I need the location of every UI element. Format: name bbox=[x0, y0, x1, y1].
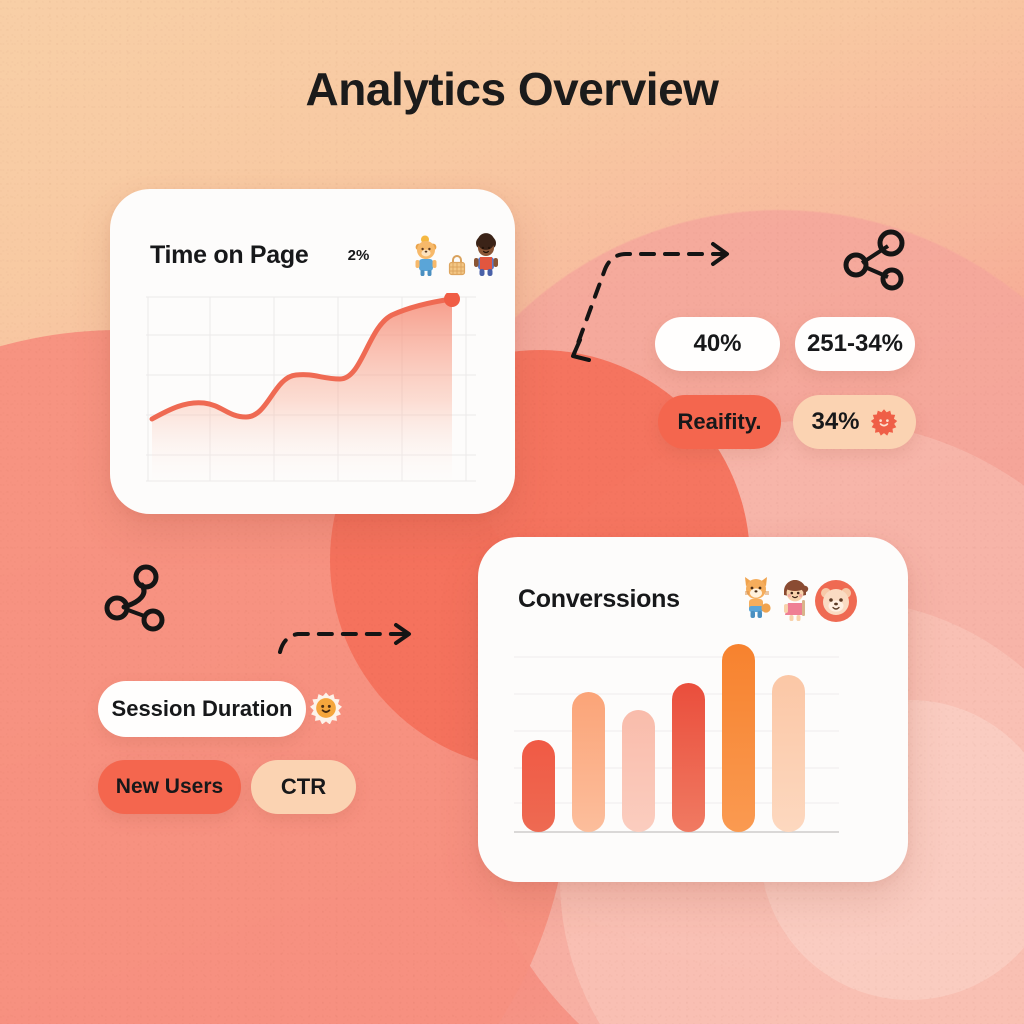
share-icon[interactable] bbox=[96, 560, 176, 640]
hamster-avatar bbox=[814, 579, 858, 623]
card-time-on-page-title: Time on Page bbox=[150, 241, 309, 270]
pill-session-duration[interactable]: Session Duration bbox=[98, 681, 306, 737]
sun-smile-icon bbox=[870, 408, 898, 436]
person-avatar bbox=[469, 232, 503, 278]
line-area-chart bbox=[146, 293, 476, 485]
avatar-group-top bbox=[411, 232, 503, 278]
bear-avatar bbox=[411, 234, 445, 278]
card-conversions-title: Converssions bbox=[518, 585, 680, 614]
share-icon[interactable] bbox=[836, 222, 908, 294]
card-time-on-page[interactable]: Time on Page 2% bbox=[110, 189, 515, 514]
girl-avatar bbox=[778, 577, 812, 623]
pill-range[interactable]: 251-34% bbox=[795, 317, 915, 371]
area-fill bbox=[152, 299, 452, 483]
pill-ctr-label: CTR bbox=[281, 774, 326, 800]
avatar-group-bottom bbox=[738, 575, 858, 623]
pill-range-label: 251-34% bbox=[807, 330, 903, 358]
bar bbox=[772, 675, 805, 832]
bar bbox=[622, 710, 655, 832]
card-conversions-header: Converssions bbox=[518, 575, 858, 623]
bar bbox=[672, 683, 705, 832]
pill-reaifity[interactable]: Reaifity. bbox=[658, 395, 781, 449]
basket-icon bbox=[447, 252, 467, 278]
pill-reaifity-label: Reaifity. bbox=[678, 409, 762, 435]
fox-avatar bbox=[738, 575, 776, 623]
dashed-arrow-right-icon bbox=[268, 618, 428, 668]
dashed-elbow-arrow-icon bbox=[548, 232, 748, 377]
pill-new-users[interactable]: New Users bbox=[98, 760, 241, 814]
analytics-overview-poster: Analytics Overview Time on Page 2% bbox=[0, 0, 1024, 1024]
donut-percent-label: 2% bbox=[323, 219, 395, 291]
sun-smile-icon-left bbox=[310, 692, 342, 724]
bar bbox=[572, 692, 605, 832]
pill-thirtyfour-percent[interactable]: 34% bbox=[793, 395, 916, 449]
card-conversions[interactable]: Converssions bbox=[478, 537, 908, 882]
page-title: Analytics Overview bbox=[0, 62, 1024, 116]
bar bbox=[522, 740, 555, 832]
pill-new-users-label: New Users bbox=[116, 775, 223, 799]
pill-session-duration-label: Session Duration bbox=[112, 696, 293, 722]
card-time-on-page-header: Time on Page 2% bbox=[150, 219, 503, 291]
donut-chart: 2% bbox=[323, 219, 395, 291]
bar-chart bbox=[514, 627, 874, 855]
pill-thirtyfour-percent-label: 34% bbox=[811, 408, 859, 436]
bar bbox=[722, 644, 755, 832]
pill-ctr[interactable]: CTR bbox=[251, 760, 356, 814]
